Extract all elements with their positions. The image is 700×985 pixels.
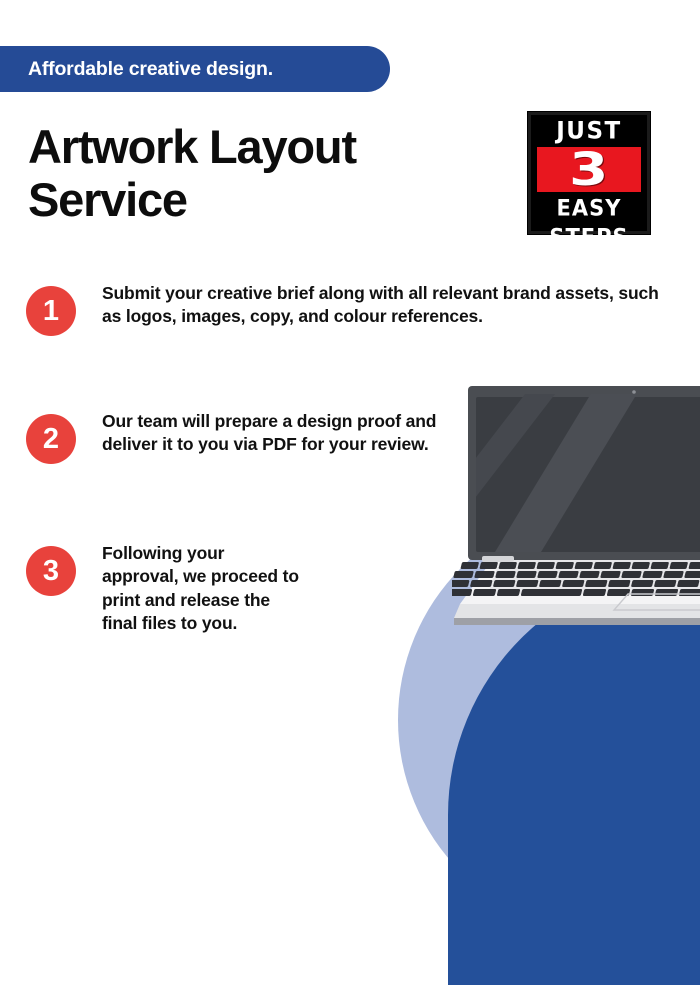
laptop-front-edge — [454, 604, 700, 618]
laptop-camera-icon — [632, 390, 636, 394]
step-item-2: 2 Our team will prepare a design proof a… — [26, 410, 447, 464]
badge-easy-label: EASY — [537, 197, 641, 219]
step-description-3: Following your approval, we proceed to p… — [102, 542, 302, 635]
step-description-2: Our team will prepare a design proof and… — [102, 410, 447, 457]
laptop-illustration — [452, 382, 700, 642]
step-description-1: Submit your creative brief along with al… — [102, 282, 670, 329]
step-number-badge-1: 1 — [26, 286, 76, 336]
page-title-line-2: Service — [28, 173, 187, 226]
laptop-base-shadow — [454, 618, 700, 625]
badge-steps-label: STEPS — [537, 226, 641, 248]
step-number-badge-3: 3 — [26, 546, 76, 596]
tagline-banner: Affordable creative design. — [0, 46, 390, 92]
badge-just-label: JUST — [537, 119, 641, 143]
badge-number-band: 3 — [537, 147, 641, 192]
page-title: Artwork Layout Service — [28, 121, 498, 226]
step-item-1: 1 Submit your creative brief along with … — [26, 282, 670, 336]
just-3-easy-steps-badge: JUST 3 EASY STEPS — [528, 112, 650, 234]
step-item-3: 3 Following your approval, we proceed to… — [26, 542, 302, 635]
tagline-text: Affordable creative design. — [0, 58, 273, 81]
page-title-line-1: Artwork Layout — [28, 120, 356, 173]
badge-number-label: 3 — [569, 147, 608, 192]
step-number-badge-2: 2 — [26, 414, 76, 464]
